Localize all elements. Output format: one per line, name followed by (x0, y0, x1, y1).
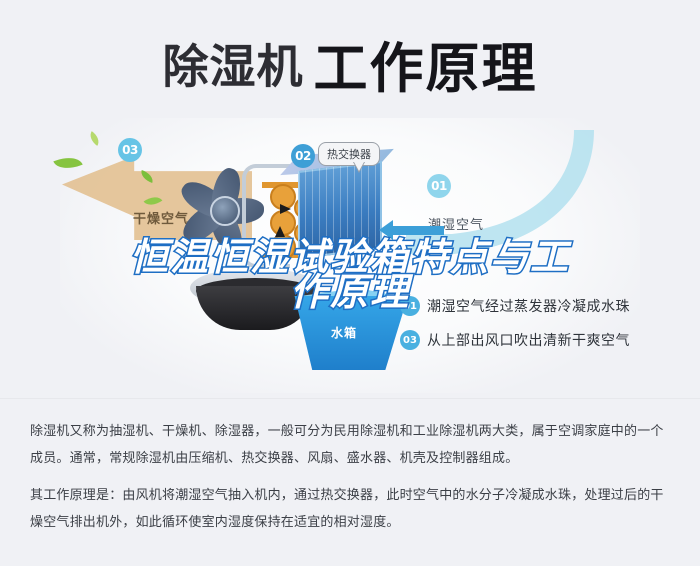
heat-exchanger-callout: 热交换器 (318, 142, 380, 166)
humid-air-arrow-icon (392, 226, 444, 235)
page-title-part2: 工作原理 (314, 37, 538, 100)
badge-01: 01 (427, 174, 451, 198)
legend-badge-01: 01 (400, 296, 420, 316)
section-divider (0, 398, 700, 399)
badge-02: 02 (291, 144, 315, 168)
body-copy: 除湿机又称为抽湿机、干燥机、除湿器，一般可分为民用除湿机和工业除湿机两大类，属于… (30, 418, 672, 546)
badge-03: 03 (118, 138, 142, 162)
legend-item: 03 从上部出风口吹出清新干爽空气 (400, 330, 630, 350)
page-title-part1: 除湿机 (163, 40, 304, 94)
diagram-legend: 01 潮湿空气经过蒸发器冷凝成水珠 03 从上部出风口吹出清新干爽空气 (400, 296, 630, 364)
legend-text-03: 从上部出风口吹出清新干爽空气 (427, 330, 630, 350)
flow-arrow-right-icon (280, 204, 291, 214)
heat-exchanger-block (298, 161, 382, 259)
page-title: 除湿机工作原理 (0, 24, 700, 103)
body-paragraph-2: 其工作原理是：由风机将潮湿空气抽入机内，通过热交换器，此时空气中的水分子冷凝成水… (30, 482, 672, 536)
legend-item: 01 潮湿空气经过蒸发器冷凝成水珠 (400, 296, 630, 316)
callout-tail-icon (353, 162, 365, 173)
body-paragraph-1: 除湿机又称为抽湿机、干燥机、除湿器，一般可分为民用除湿机和工业除湿机两大类，属于… (30, 418, 672, 472)
fan-hub (210, 196, 240, 226)
illustration-stage: 干燥空气 03 (0, 118, 700, 393)
water-tank-label: 水箱 (331, 324, 357, 341)
legend-badge-03: 03 (400, 330, 420, 350)
page-root: 除湿机工作原理 干燥空气 03 (0, 0, 700, 566)
flow-arrow-up-icon (275, 226, 285, 237)
legend-text-01: 潮湿空气经过蒸发器冷凝成水珠 (427, 296, 630, 316)
